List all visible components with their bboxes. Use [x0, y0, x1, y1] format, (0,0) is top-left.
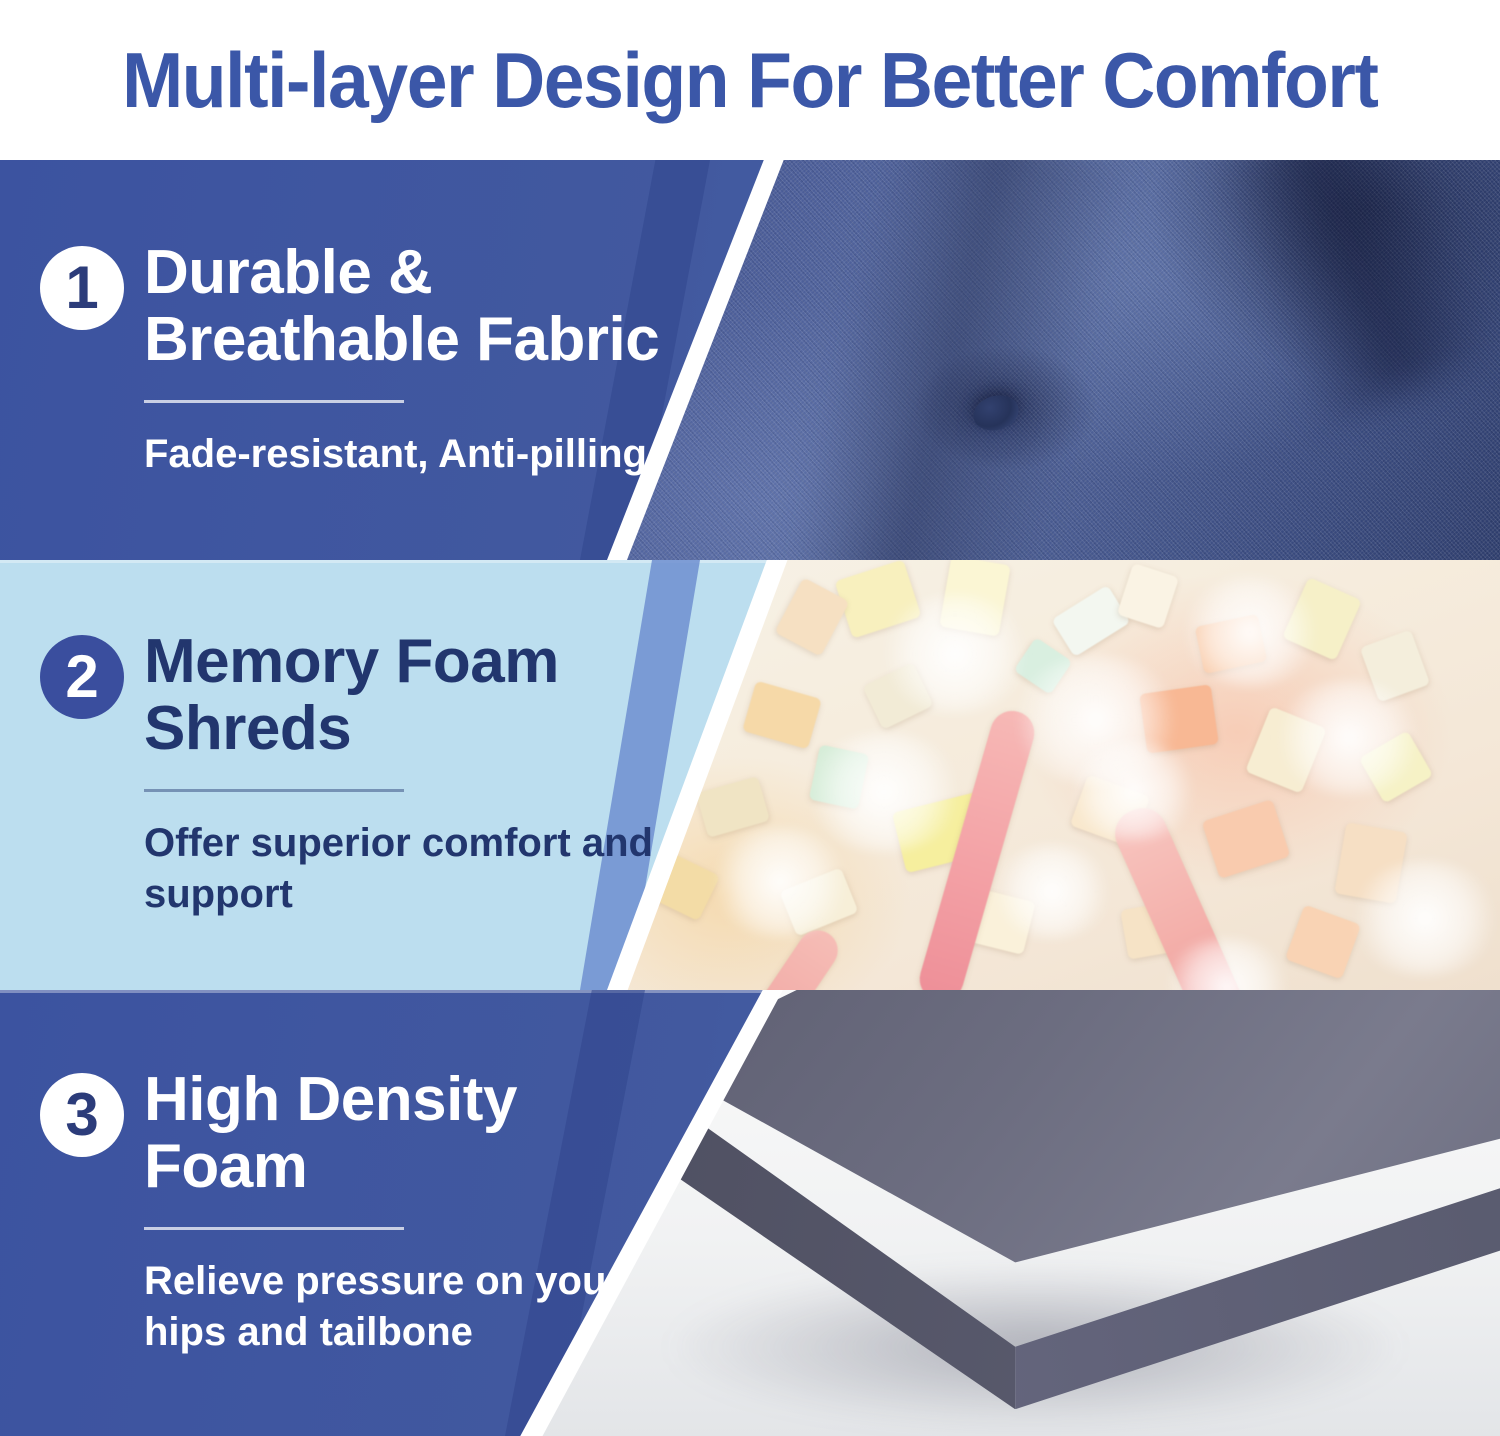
- foam-shred: [1201, 799, 1290, 879]
- fiberfill-fluff: [1350, 861, 1500, 976]
- panel-2-title: Memory Foam Shreds: [144, 629, 680, 763]
- feature-panel-3: 3 High Density Foam Relieve pressure on …: [0, 990, 1500, 1436]
- fiberfill-fluff: [992, 844, 1112, 939]
- panel-3-content: 3 High Density Foam Relieve pressure on …: [40, 990, 680, 1436]
- panel-2-divider: [144, 789, 404, 792]
- feature-panel-2: 2 Memory Foam Shreds Offer superior comf…: [0, 560, 1500, 990]
- feature-panel-1: 1 Durable & Breathable Fabric Fade-resis…: [0, 160, 1500, 560]
- panel-3-title: High Density Foam: [144, 1067, 680, 1201]
- foam-shred: [696, 776, 770, 838]
- panel-3-subtitle: Relieve pressure on your hips and tailbo…: [144, 1256, 664, 1358]
- panel-1-heading-row: 1 Durable & Breathable Fabric: [40, 240, 680, 374]
- panel-3-divider: [144, 1227, 404, 1230]
- panel-1-content: 1 Durable & Breathable Fabric Fade-resis…: [40, 160, 680, 560]
- page-title-bar: Multi-layer Design For Better Comfort: [0, 0, 1500, 160]
- panel-1-title: Durable & Breathable Fabric: [144, 240, 680, 374]
- fiberfill-fluff: [1180, 577, 1320, 687]
- infographic-root: Multi-layer Design For Better Comfort 1 …: [0, 0, 1500, 1436]
- foam-shred: [742, 681, 822, 750]
- fiberfill-fluff: [1274, 680, 1424, 795]
- fiberfill-fluff: [804, 732, 964, 852]
- panel-1-subtitle: Fade-resistant, Anti-pilling: [144, 429, 664, 480]
- panel-1-number-badge: 1: [40, 246, 124, 330]
- fiberfill-fluff: [710, 827, 850, 937]
- page-title: Multi-layer Design For Better Comfort: [122, 41, 1378, 119]
- fiberfill-fluff: [1068, 741, 1198, 841]
- panel-2-subtitle: Offer superior comfort and support: [144, 818, 664, 920]
- foam-shred: [1052, 585, 1131, 657]
- panel-1-divider: [144, 400, 404, 403]
- panel-2-number-badge: 2: [40, 635, 124, 719]
- fiberfill-fluff: [880, 594, 1030, 714]
- panel-3-number-badge: 3: [40, 1073, 124, 1157]
- panel-3-heading-row: 3 High Density Foam: [40, 1067, 680, 1201]
- panel-2-content: 2 Memory Foam Shreds Offer superior comf…: [40, 560, 680, 990]
- panel-2-heading-row: 2 Memory Foam Shreds: [40, 629, 680, 763]
